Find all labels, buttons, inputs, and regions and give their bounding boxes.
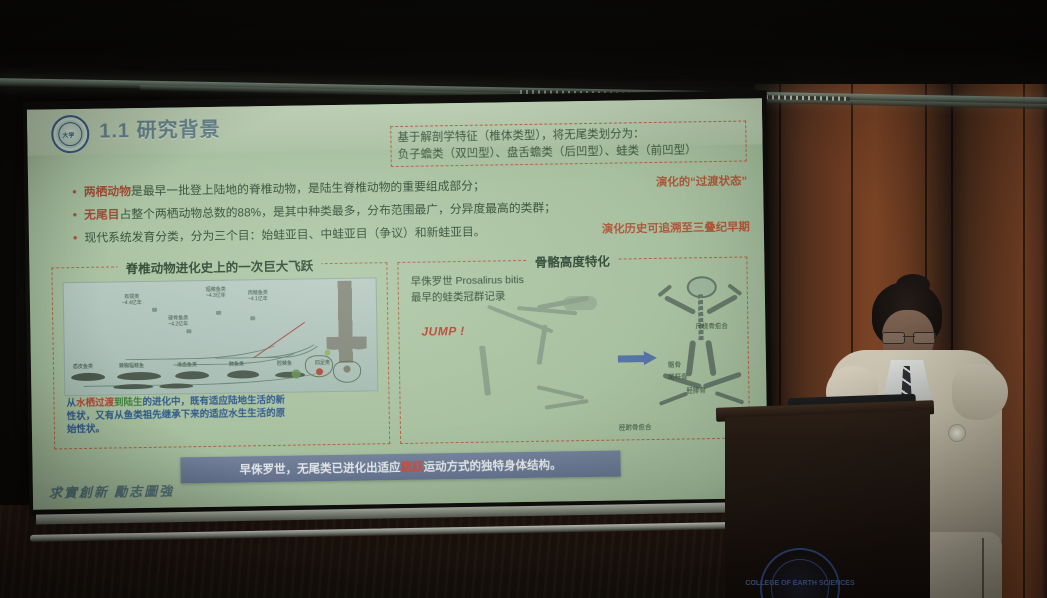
- transition-arrow-icon: [618, 351, 658, 366]
- timeline-node-label: 有颌类 ~4.4亿年: [122, 294, 142, 307]
- bullet-marker: •: [73, 231, 78, 245]
- lecture-hall-photo: 大学 1.1 研究背景 基于解剖学特征（椎体类型），将无尾类划分为： 负子蟾类（…: [0, 0, 1047, 598]
- panel-left-title-wrap: 脊椎动物进化史上的一次巨大飞跃: [52, 254, 386, 279]
- timeline-node-label: 肉鳍鱼类 ~4.1亿年: [248, 290, 268, 303]
- university-motto: 求實創新 勵志圖強: [49, 481, 175, 502]
- panel-right-title-wrap: 骨骼高度特化: [398, 249, 746, 274]
- bone-annotation: 胫跗骨愈合: [619, 421, 652, 432]
- phylo-node: [186, 329, 191, 333]
- banner-prefix: 早侏罗世，无尾类已进化出适应: [240, 462, 401, 477]
- ceiling: [0, 0, 1047, 84]
- timeline-node-label: 辐鳍鱼类 ~4.3亿年: [206, 287, 226, 300]
- bullet-text: 占整个两栖动物总数的88%，是其中种类最多，分布范围最广，分异度最高的类群；: [119, 200, 556, 221]
- panel-vertebrate-evolution: 脊椎动物进化史上的一次巨大飞跃 有颌类 ~4.4亿年 硬骨鱼类: [51, 262, 390, 449]
- banner-text: 早侏罗世，无尾类已进化出适应跳跃运动方式的独特身体结构。: [239, 456, 561, 477]
- fish-silhouette: [113, 384, 153, 390]
- panel-skeletal-specialization: 骨骼高度特化 早侏罗世 Prosalirus bitis 最早的蛙类冠群记录 J…: [397, 256, 750, 443]
- university-seal-emblem: COLLEGE OF EARTH SCIENCES: [760, 548, 840, 598]
- caption-highlight-land: 到陆生: [114, 397, 143, 408]
- panel-right-title: 骨骼高度特化: [527, 255, 618, 270]
- bullet-body: 现代系统发育分类，分为三个目：始蛙亚目、中蛙亚目（争议）和新蛙亚目。: [84, 224, 485, 246]
- bullet-marker: •: [72, 185, 77, 199]
- phylo-node: [152, 308, 157, 312]
- prosalirus-skeleton-sketch: [477, 289, 629, 421]
- bone-annotation: 胫腓骨: [686, 384, 706, 394]
- page-title: 1.1 研究背景: [99, 113, 221, 144]
- bullet-marker: •: [72, 208, 77, 222]
- panel-left-caption: 从水栖过渡到陆生的进化中，既有适应陆地生活的新性状，又有从鱼类祖先继承下来的适应…: [66, 395, 293, 437]
- caption-highlight-water: 水栖过渡: [76, 397, 114, 409]
- bone-annotation: 尺桡骨愈合: [695, 320, 728, 331]
- banner-highlight: 跳跃: [400, 462, 423, 474]
- specimen-label: 滑齿鱼类: [177, 361, 197, 368]
- specimen-label: 棘胸辐鳍鱼: [119, 362, 144, 369]
- projected-slide: 大学 1.1 研究背景 基于解剖学特征（椎体类型），将无尾类划分为： 负子蟾类（…: [27, 98, 768, 509]
- bullet-text: 是最早一批登上陆地的脊椎动物，是陆生脊椎动物的重要组成部分；: [131, 179, 485, 199]
- fish-silhouette: [159, 383, 193, 389]
- podium-seal-text: COLLEGE OF EARTH SCIENCES: [745, 580, 854, 587]
- bullet-item: • 现代系统发育分类，分为三个目：始蛙亚目、中蛙亚目（争议）和新蛙亚目。 演化历…: [73, 220, 752, 247]
- bullet-item: • 无尾目占整个两栖动物总数的88%，是其中种类最多，分布范围最广，分异度最高的…: [72, 197, 751, 224]
- phylogeny-figure: 有颌类 ~4.4亿年 硬骨鱼类 ~4.2亿年 辐鳍鱼类 ~4.3亿年 肉鳍鱼类 …: [63, 277, 379, 396]
- coat-hood-right: [952, 364, 1008, 420]
- terrestrial-scene-sketch: [275, 336, 372, 390]
- specimen-label: 盾皮鱼类: [73, 363, 93, 370]
- podium-front-face: COLLEGE OF EARTH SCIENCES: [725, 436, 930, 598]
- bullet-body: 两栖动物是最早一批登上陆地的脊椎动物，是陆生脊椎动物的重要组成部分；: [84, 179, 485, 201]
- coat-badge: [948, 424, 966, 442]
- conclusion-banner: 早侏罗世，无尾类已进化出适应跳跃运动方式的独特身体结构。: [180, 451, 620, 484]
- spine-bone: [698, 294, 704, 340]
- coat-seam: [982, 538, 984, 598]
- bullet-list: • 两栖动物是最早一批登上陆地的脊椎动物，是陆生脊椎动物的重要组成部分； 演化的…: [72, 174, 752, 253]
- panel-left-title: 脊椎动物进化史上的一次巨大飞跃: [118, 259, 322, 276]
- bullet-item: • 两栖动物是最早一批登上陆地的脊椎动物，是陆生脊椎动物的重要组成部分； 演化的…: [72, 174, 751, 201]
- phylo-node: [216, 311, 221, 315]
- jump-label: JUMP !: [421, 324, 464, 339]
- bullet-highlight: 两栖动物: [84, 184, 131, 199]
- podium: COLLEGE OF EARTH SCIENCES: [725, 410, 930, 598]
- bullet-highlight: 无尾目: [84, 207, 120, 222]
- fossil-line-1: 早侏罗世 Prosalirus bitis: [411, 273, 524, 291]
- bullet-side-note: 演化历史可追溯至三叠纪早期: [602, 220, 750, 238]
- phylo-node: [250, 316, 255, 320]
- definition-callout-box: 基于解剖学特征（椎体类型），将无尾类划分为： 负子蟾类（双凹型）、盘舌蟾类（后凹…: [390, 121, 747, 168]
- bullet-text: 现代系统发育分类，分为三个目：始蛙亚目、中蛙亚目（争议）和新蛙亚目。: [84, 224, 485, 244]
- bone-annotation: 髂骨: [668, 359, 681, 369]
- glasses-icon: [882, 332, 936, 342]
- specimen-label: 肺鱼类: [229, 360, 244, 367]
- banner-suffix: 运动方式的独特身体结构。: [423, 459, 561, 473]
- bullet-body: 无尾目占整个两栖动物总数的88%，是其中种类最多，分布范围最广，分异度最高的类群…: [84, 200, 556, 223]
- bone-annotation: 尾杆骨: [668, 370, 688, 380]
- timeline-node-label: 硬骨鱼类 ~4.2亿年: [168, 315, 188, 328]
- bullet-side-note: 演化的“过渡状态”: [656, 174, 747, 191]
